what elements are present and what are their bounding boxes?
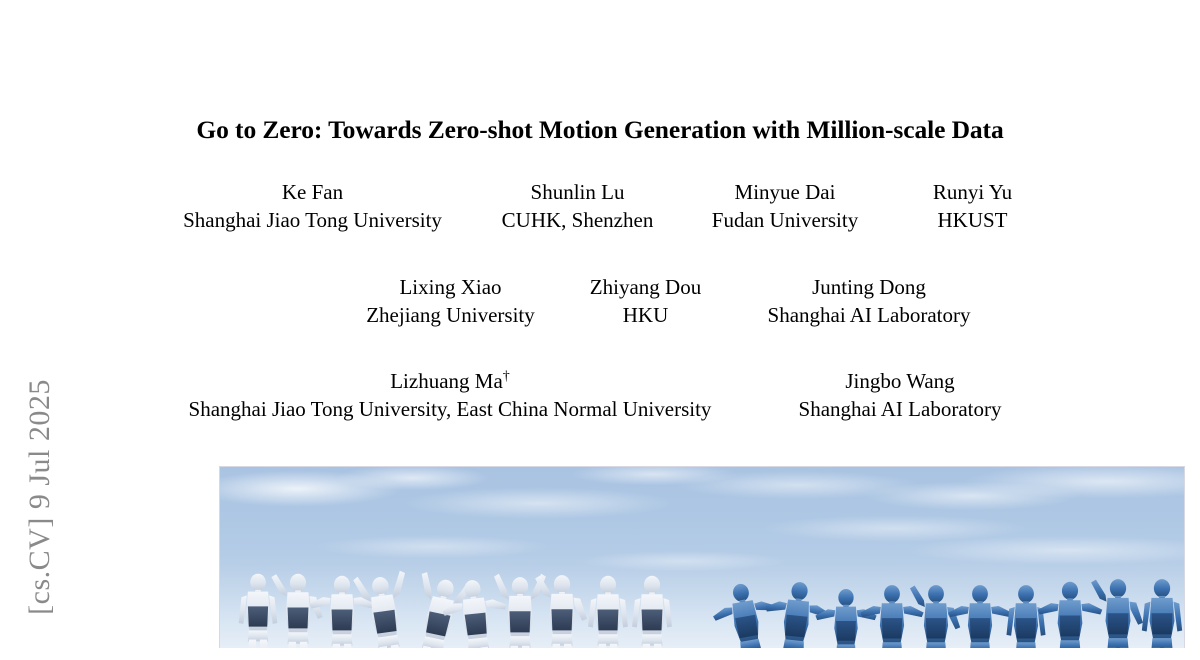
humanoid-group-blue bbox=[708, 579, 1182, 648]
author-entry: Jingbo Wang Shanghai AI Laboratory bbox=[750, 367, 1050, 423]
author-entry: Runyi Yu HKUST bbox=[893, 178, 1053, 234]
author-name: Runyi Yu bbox=[893, 178, 1053, 206]
paper-body: Go to Zero: Towards Zero-shot Motion Gen… bbox=[100, 0, 1100, 648]
author-affiliation: Zhejiang University bbox=[348, 301, 553, 329]
author-entry: Lizhuang Ma† Shanghai Jiao Tong Universi… bbox=[150, 367, 750, 423]
author-affiliation: CUHK, Shenzhen bbox=[478, 206, 678, 234]
author-row: Lizhuang Ma† Shanghai Jiao Tong Universi… bbox=[100, 367, 1100, 423]
author-entry: Ke Fan Shanghai Jiao Tong University bbox=[148, 178, 478, 234]
author-name-text: Lizhuang Ma bbox=[390, 369, 503, 393]
author-affiliation: Shanghai AI Laboratory bbox=[738, 301, 1000, 329]
author-name: Junting Dong bbox=[738, 273, 1000, 301]
author-entry: Zhiyang Dou HKU bbox=[553, 273, 738, 329]
author-affiliation: Shanghai Jiao Tong University bbox=[148, 206, 478, 234]
author-name: Lixing Xiao bbox=[348, 273, 553, 301]
arxiv-stamp-text: [cs.CV] 9 Jul 2025 bbox=[23, 330, 57, 660]
author-entry: Lixing Xiao Zhejiang University bbox=[348, 273, 553, 329]
author-affiliation: HKUST bbox=[893, 206, 1053, 234]
author-affiliation: Shanghai AI Laboratory bbox=[750, 395, 1050, 423]
page-title: Go to Zero: Towards Zero-shot Motion Gen… bbox=[100, 115, 1100, 145]
author-entry: Shunlin Lu CUHK, Shenzhen bbox=[478, 178, 678, 234]
author-affiliation: Shanghai Jiao Tong University, East Chin… bbox=[150, 395, 750, 423]
teaser-figure bbox=[219, 466, 1185, 648]
author-name: Jingbo Wang bbox=[750, 367, 1050, 395]
author-name: Ke Fan bbox=[148, 178, 478, 206]
author-affiliation: HKU bbox=[553, 301, 738, 329]
corresponding-author-marker: † bbox=[503, 369, 510, 384]
author-entry: Minyue Dai Fudan University bbox=[678, 178, 893, 234]
author-name: Lizhuang Ma† bbox=[150, 367, 750, 395]
author-name: Zhiyang Dou bbox=[553, 273, 738, 301]
humanoid-group-white bbox=[239, 570, 672, 648]
arxiv-stamp: [cs.CV] 9 Jul 2025 bbox=[0, 330, 80, 660]
author-entry: Junting Dong Shanghai AI Laboratory bbox=[738, 273, 1000, 329]
author-name: Shunlin Lu bbox=[478, 178, 678, 206]
author-name: Minyue Dai bbox=[678, 178, 893, 206]
author-row: Lixing Xiao Zhejiang University Zhiyang … bbox=[100, 273, 1100, 329]
author-affiliation: Fudan University bbox=[678, 206, 893, 234]
humanoid-crowd-illustration bbox=[220, 466, 1185, 648]
author-row: Ke Fan Shanghai Jiao Tong University Shu… bbox=[100, 178, 1100, 234]
